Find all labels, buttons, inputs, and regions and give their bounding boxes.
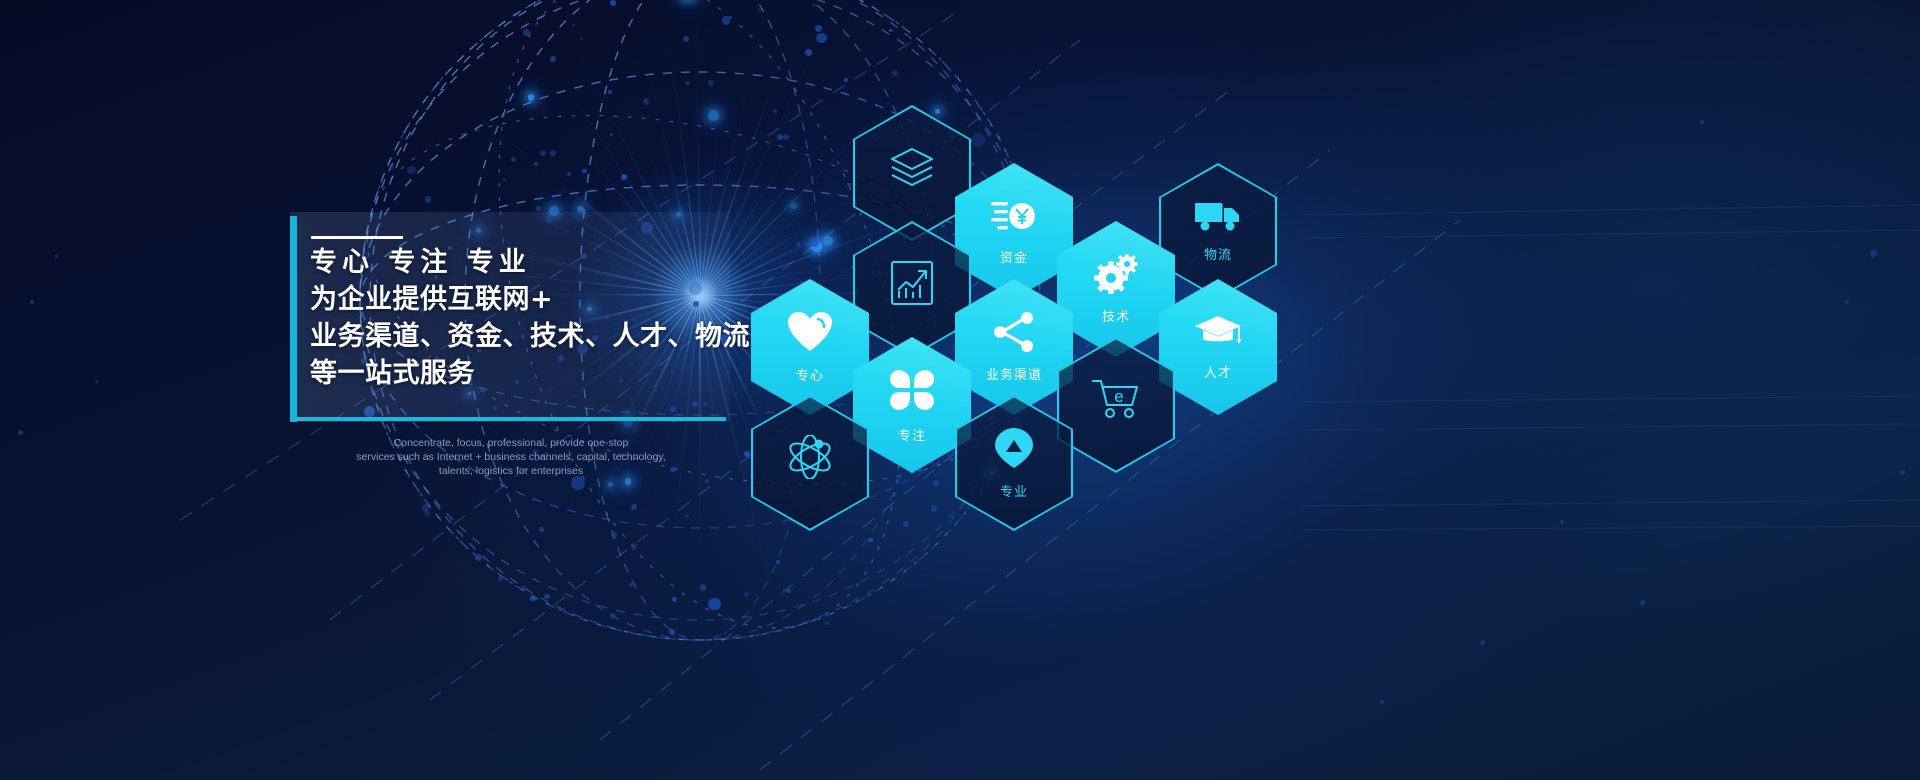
svg-text:e: e (1114, 387, 1123, 406)
hex-talent[interactable]: 人才 (1159, 279, 1277, 415)
banner-stage: 专心 专注 专业 为企业提供互联网+ 业务渠道、资金、技术、人才、物流 等一站式… (0, 0, 1920, 780)
hex-logistics[interactable]: 物流 (1159, 163, 1277, 299)
hex-channels[interactable]: 业务渠道 (955, 279, 1073, 415)
money-yen-icon (991, 197, 1037, 240)
graduation-cap-icon (1194, 314, 1242, 355)
hex-ecommerce[interactable]: e (1057, 337, 1175, 473)
accent-underline (294, 417, 726, 421)
hex-focus-heart[interactable]: 专心 (751, 279, 869, 415)
hex-attention-label: 专注 (898, 425, 926, 444)
hex-logistics-label: 物流 (1204, 244, 1232, 263)
share-nodes-icon (992, 312, 1036, 357)
hex-focus-heart-label: 专心 (796, 365, 824, 384)
layers-icon (889, 146, 935, 193)
english-caption: Concentrate, focus, professional, provid… (296, 436, 726, 478)
headline-line-2: 为企业提供互联网+ (310, 281, 770, 318)
e-shopping-cart-icon: e (1091, 378, 1141, 425)
hex-tech-label: 技术 (1102, 306, 1130, 325)
headline-line-1: 专心 专注 专业 (310, 244, 770, 281)
truck-icon (1195, 200, 1241, 237)
hex-talent-label: 人才 (1204, 362, 1232, 381)
headline-line-3: 业务渠道、资金、技术、人才、物流 (310, 318, 770, 355)
accent-bar (290, 216, 297, 422)
caption-line-3: talents, logistics for enterprises (296, 464, 726, 478)
diamond-icon (994, 427, 1034, 474)
hex-growth-chart[interactable] (853, 221, 971, 357)
caption-line-1: Concentrate, focus, professional, provid… (296, 436, 726, 450)
caption-line-2: services such as Internet + business cha… (296, 450, 726, 464)
headline: 专心 专注 专业 为企业提供互联网+ 业务渠道、资金、技术、人才、物流 等一站式… (310, 244, 770, 392)
headline-line-4: 等一站式服务 (310, 355, 770, 392)
gears-icon (1094, 254, 1138, 299)
hex-professional[interactable]: 专业 (955, 395, 1073, 531)
hexagon-cluster: 资金 物流 (735, 105, 1315, 540)
hex-tech[interactable]: 技术 (1057, 221, 1175, 357)
headline-rule (311, 236, 403, 239)
atom-icon (786, 435, 834, 484)
hex-attention[interactable]: 专注 (853, 337, 971, 473)
heart-icon (787, 311, 833, 358)
hex-funds-label: 资金 (1000, 247, 1028, 266)
hex-professional-label: 专业 (1000, 481, 1028, 500)
hex-atom[interactable] (751, 395, 869, 531)
hex-channels-label: 业务渠道 (986, 364, 1042, 383)
hex-layers[interactable] (853, 105, 971, 241)
clover-icon (889, 367, 935, 418)
hex-funds[interactable]: 资金 (955, 163, 1073, 299)
growth-chart-icon (890, 260, 934, 311)
